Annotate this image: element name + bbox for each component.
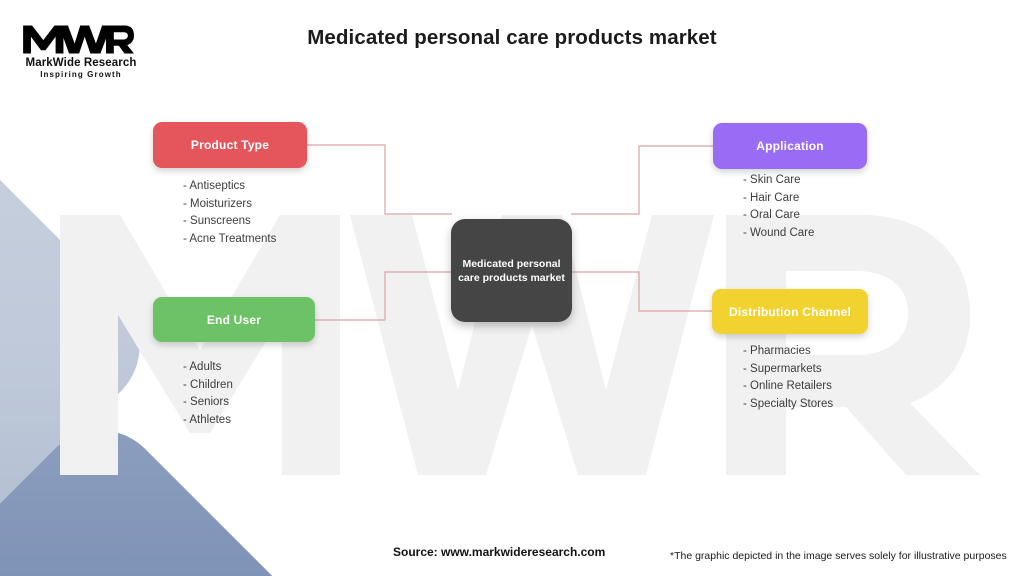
connector-application xyxy=(571,146,713,214)
list-item: - Children xyxy=(183,377,233,395)
center-node-line2: care products market xyxy=(458,272,565,284)
list-item: - Specialty Stores xyxy=(743,396,833,414)
page-title: Medicated personal care products market xyxy=(0,26,1024,50)
list-item: - Pharmacies xyxy=(743,343,833,361)
node-end-user[interactable]: End User xyxy=(153,297,315,342)
connector-end-user xyxy=(315,272,452,320)
connector-product-type xyxy=(307,145,452,214)
node-application[interactable]: Application xyxy=(713,123,867,169)
node-distribution-channel[interactable]: Distribution Channel xyxy=(712,289,868,334)
source-label: Source: www.markwideresearch.com xyxy=(393,545,605,559)
node-end-user-label: End User xyxy=(207,313,261,327)
list-item: - Adults xyxy=(183,359,233,377)
list-item: - Seniors xyxy=(183,394,233,412)
logo-company-name: MarkWide Research xyxy=(16,57,146,69)
list-product-type: - Antiseptics - Moisturizers - Sunscreen… xyxy=(183,178,276,248)
center-node-line1: Medicated personal xyxy=(462,258,560,270)
list-item: - Hair Care xyxy=(743,190,814,208)
slide-canvas: MarkWide Research Inspiring Growth Medic… xyxy=(0,0,1024,576)
node-application-label: Application xyxy=(756,139,824,153)
logo-tagline: Inspiring Growth xyxy=(16,70,146,79)
list-item: - Antiseptics xyxy=(183,178,276,196)
list-item: - Athletes xyxy=(183,412,233,430)
list-application: - Skin Care - Hair Care - Oral Care - Wo… xyxy=(743,172,814,242)
list-item: - Oral Care xyxy=(743,207,814,225)
list-item: - Supermarkets xyxy=(743,361,833,379)
list-distribution-channel: - Pharmacies - Supermarkets - Online Ret… xyxy=(743,343,833,413)
list-item: - Moisturizers xyxy=(183,196,276,214)
disclaimer-label: *The graphic depicted in the image serve… xyxy=(670,550,1007,562)
list-item: - Online Retailers xyxy=(743,378,833,396)
center-node[interactable]: Medicated personal care products market xyxy=(451,219,572,322)
node-product-type-label: Product Type xyxy=(191,138,269,152)
decorative-shape-light xyxy=(0,134,166,558)
list-item: - Wound Care xyxy=(743,225,814,243)
center-node-text: Medicated personal care products market xyxy=(452,257,571,285)
connector-distribution-channel xyxy=(571,272,712,311)
list-item: - Skin Care xyxy=(743,172,814,190)
node-product-type[interactable]: Product Type xyxy=(153,122,307,168)
node-distribution-channel-label: Distribution Channel xyxy=(729,305,851,319)
list-item: - Acne Treatments xyxy=(183,231,276,249)
decorative-shape-dark xyxy=(0,404,326,576)
list-end-user: - Adults - Children - Seniors - Athletes xyxy=(183,359,233,429)
list-item: - Sunscreens xyxy=(183,213,276,231)
